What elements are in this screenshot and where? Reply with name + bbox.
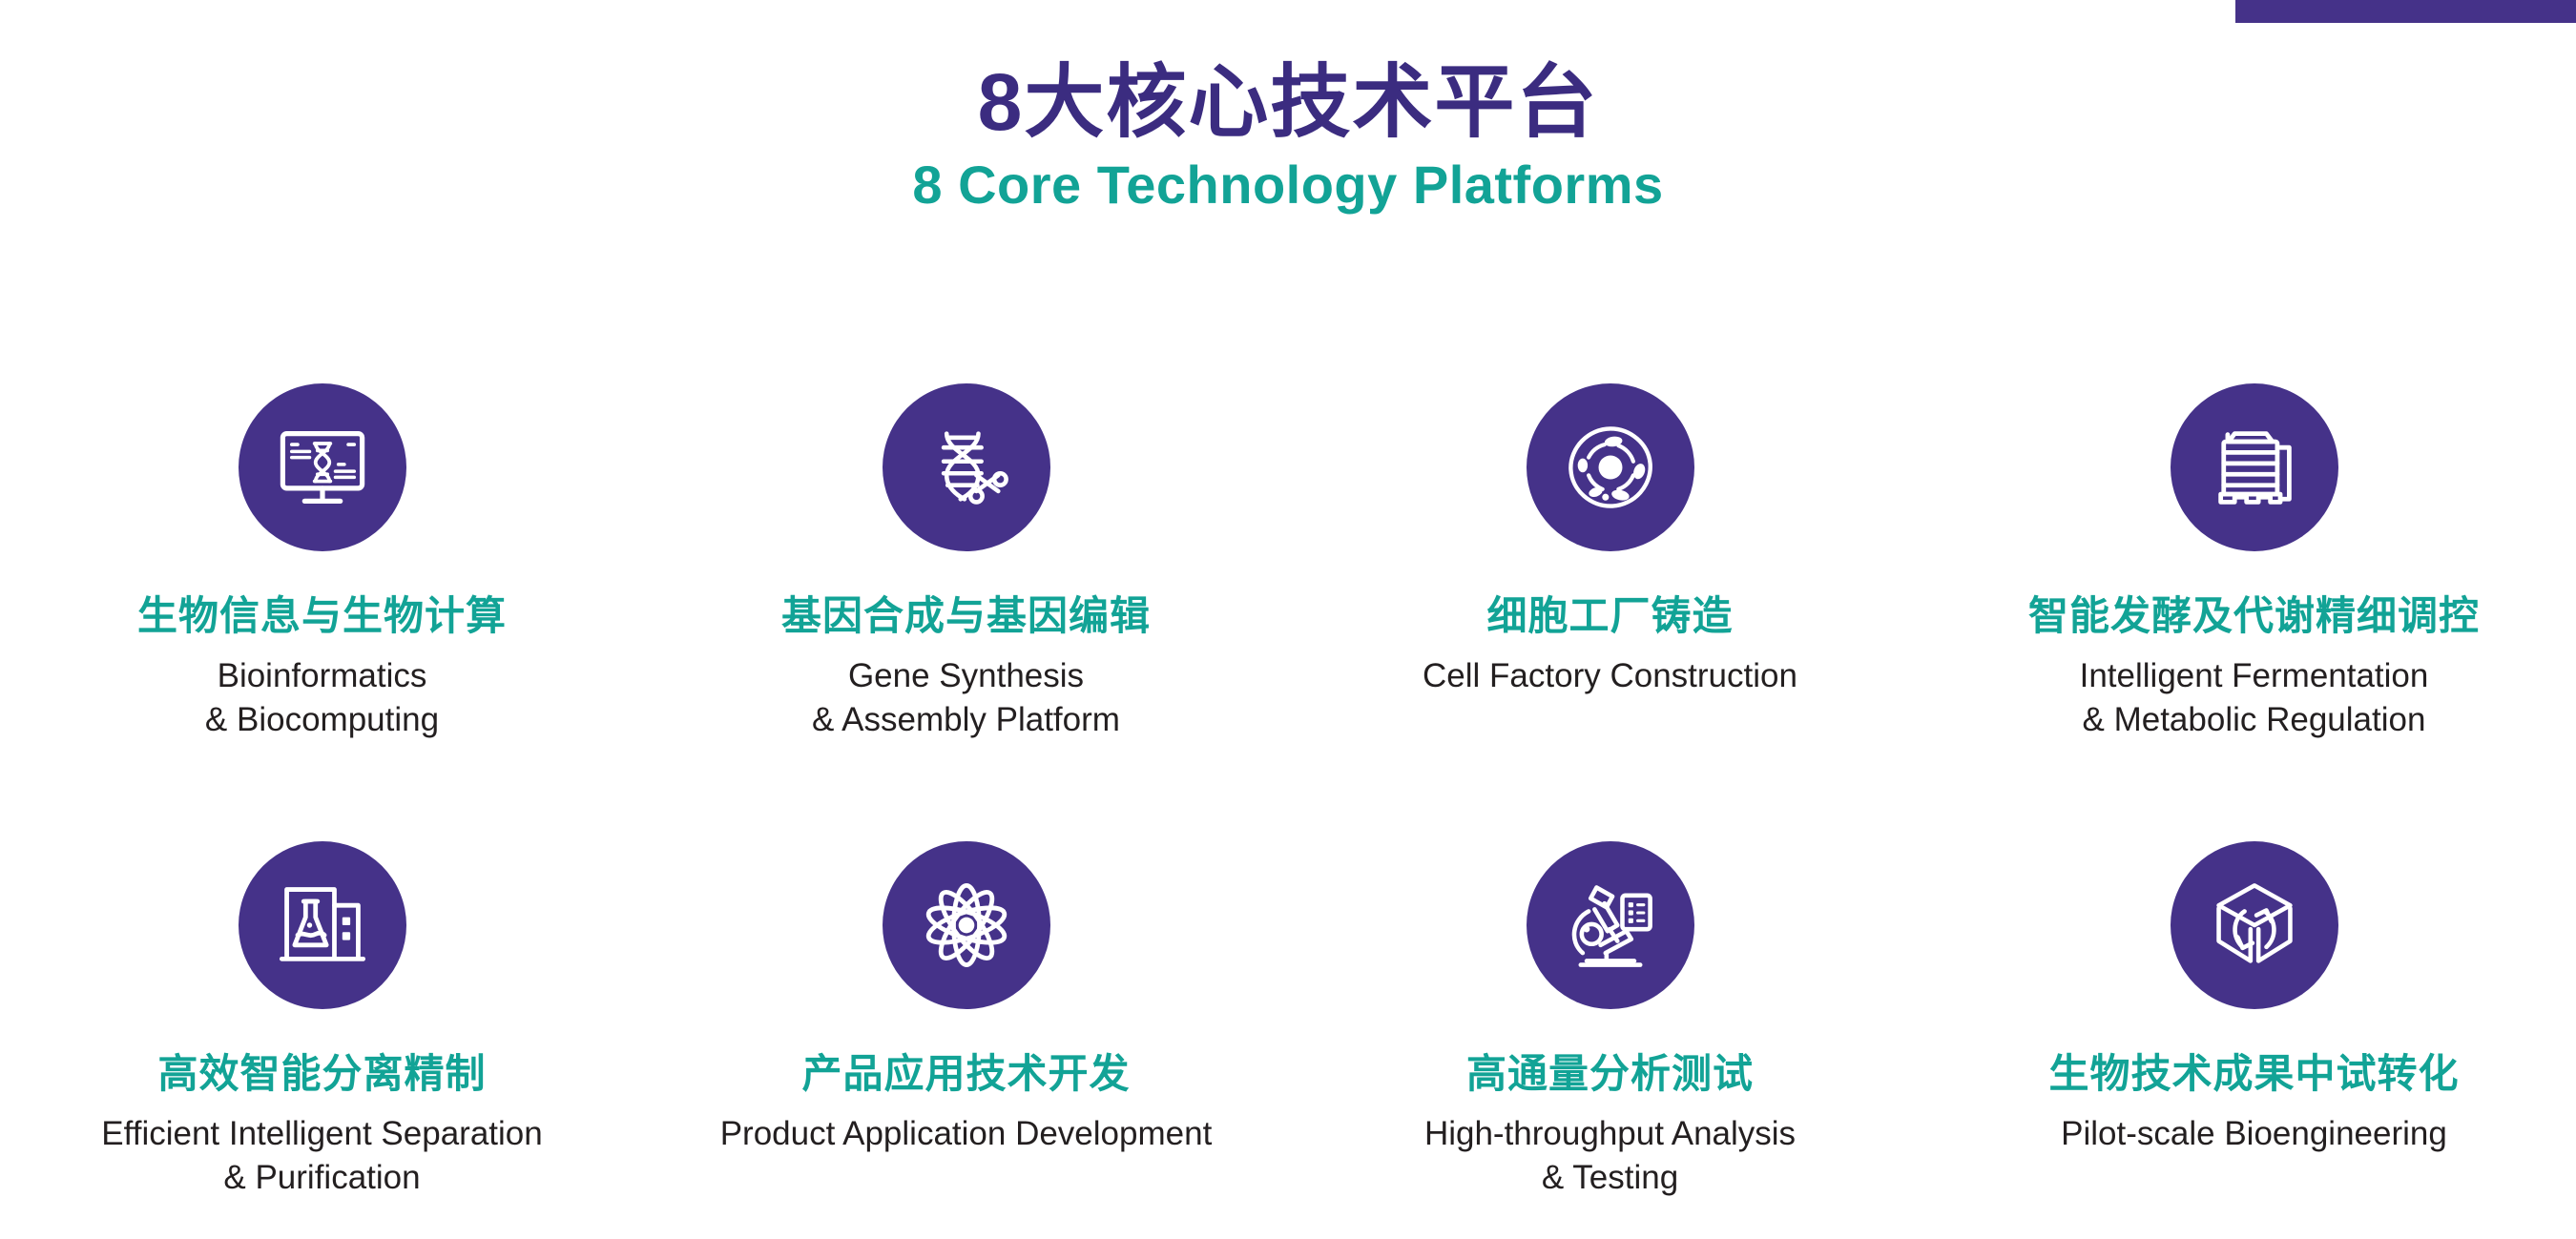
- platform-label-en: Gene Synthesis & Assembly Platform: [812, 654, 1120, 742]
- platform-card[interactable]: 细胞工厂铸造 Cell Factory Construction: [1288, 374, 1932, 832]
- icon-badge: [1527, 841, 1694, 1009]
- platform-card[interactable]: 基因合成与基因编辑 Gene Synthesis & Assembly Plat…: [644, 374, 1288, 832]
- microscope-icon: [1561, 876, 1660, 975]
- platform-label-en: Pilot-scale Bioengineering: [2061, 1112, 2447, 1156]
- platform-label-en: Efficient Intelligent Separation & Purif…: [101, 1112, 542, 1200]
- icon-badge: [239, 383, 406, 551]
- icon-badge: [2171, 841, 2338, 1009]
- platform-label-en: Product Application Development: [720, 1112, 1213, 1156]
- icon-badge: [883, 383, 1050, 551]
- page-title-en: 8 Core Technology Platforms: [0, 155, 2576, 216]
- platform-label-cn: 细胞工厂铸造: [1486, 593, 1733, 639]
- platform-label-cn: 生物信息与生物计算: [137, 593, 507, 639]
- platform-label-en-line2: & Assembly Platform: [812, 698, 1120, 742]
- platform-card[interactable]: 高效智能分离精制 Efficient Intelligent Separatio…: [0, 832, 644, 1239]
- platform-label-en: Cell Factory Construction: [1423, 654, 1797, 698]
- icon-badge: [2171, 383, 2338, 551]
- platform-label-cn: 生物技术成果中试转化: [2048, 1051, 2459, 1097]
- cell-icon: [1561, 418, 1660, 517]
- platform-label-en: Bioinformatics & Biocomputing: [205, 654, 439, 742]
- platform-label-cn: 高效智能分离精制: [157, 1051, 486, 1097]
- platform-label-en: High-throughput Analysis & Testing: [1424, 1112, 1796, 1200]
- header: 8大核心技术平台 8 Core Technology Platforms: [0, 57, 2576, 216]
- platform-label-en-line1: Intelligent Fermentation: [2080, 654, 2429, 698]
- icon-badge: [239, 841, 406, 1009]
- fermentation-tank-icon: [2205, 418, 2304, 517]
- platform-label-en: Intelligent Fermentation & Metabolic Reg…: [2080, 654, 2429, 742]
- platform-label-en-line2: & Biocomputing: [205, 698, 439, 742]
- platform-label-en-line1: Bioinformatics: [205, 654, 439, 698]
- monitor-dna-icon: [273, 418, 372, 517]
- platform-label-en-line1: Gene Synthesis: [812, 654, 1120, 698]
- platform-label-en-line1: High-throughput Analysis: [1424, 1112, 1796, 1156]
- platform-card[interactable]: 生物信息与生物计算 Bioinformatics & Biocomputing: [0, 374, 644, 832]
- platform-label-en-line1: Product Application Development: [720, 1112, 1213, 1156]
- platform-card[interactable]: 智能发酵及代谢精细调控 Intelligent Fermentation & M…: [1932, 374, 2576, 832]
- platform-label-en-line2: & Purification: [101, 1156, 542, 1200]
- cube-recycle-icon: [2205, 876, 2304, 975]
- platform-label-en-line1: Cell Factory Construction: [1423, 654, 1797, 698]
- icon-badge: [1527, 383, 1694, 551]
- platform-card[interactable]: 生物技术成果中试转化 Pilot-scale Bioengineering: [1932, 832, 2576, 1239]
- platform-label-en-line1: Pilot-scale Bioengineering: [2061, 1112, 2447, 1156]
- flask-factory-icon: [273, 876, 372, 975]
- platform-label-en-line1: Efficient Intelligent Separation: [101, 1112, 542, 1156]
- top-right-accent-bar: [2235, 0, 2576, 23]
- platform-label-cn: 智能发酵及代谢精细调控: [2028, 593, 2480, 639]
- platform-label-cn: 基因合成与基因编辑: [781, 593, 1151, 639]
- infographic-page: 8大核心技术平台 8 Core Technology Platforms: [0, 0, 2576, 1239]
- platform-card[interactable]: 产品应用技术开发 Product Application Development: [644, 832, 1288, 1239]
- platform-card[interactable]: 高通量分析测试 High-throughput Analysis & Testi…: [1288, 832, 1932, 1239]
- platform-label-cn: 产品应用技术开发: [801, 1051, 1130, 1097]
- platform-label-en-line2: & Metabolic Regulation: [2080, 698, 2429, 742]
- page-title-cn: 8大核心技术平台: [0, 57, 2576, 147]
- platform-label-cn: 高通量分析测试: [1466, 1051, 1754, 1097]
- icon-badge: [883, 841, 1050, 1009]
- atom-icon: [917, 876, 1016, 975]
- platform-grid: 生物信息与生物计算 Bioinformatics & Biocomputing: [0, 374, 2576, 1239]
- dna-scissors-icon: [917, 418, 1016, 517]
- platform-label-en-line2: & Testing: [1424, 1156, 1796, 1200]
